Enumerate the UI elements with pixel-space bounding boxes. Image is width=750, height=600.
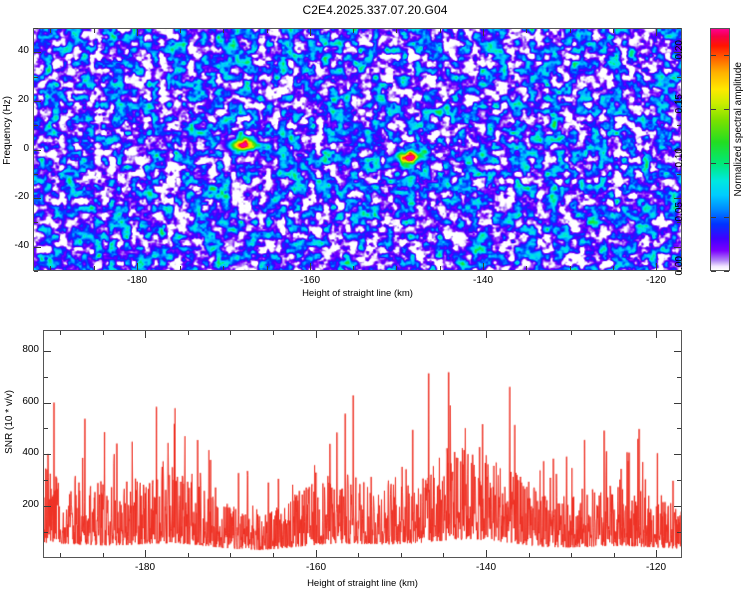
tick-mark xyxy=(396,29,397,33)
tick-label: -180 xyxy=(117,275,157,286)
tick-mark xyxy=(613,29,614,33)
tick-mark xyxy=(34,101,41,102)
tick-mark xyxy=(44,506,51,507)
snr-x-axis-label: Height of straight line (km) xyxy=(43,578,682,589)
snr-plot-area xyxy=(43,330,682,558)
tick-mark xyxy=(316,331,317,338)
tick-mark xyxy=(677,28,681,29)
tick-mark xyxy=(443,553,444,557)
tick-mark xyxy=(674,506,681,507)
tick-mark xyxy=(316,550,317,557)
tick-mark xyxy=(677,77,681,78)
tick-mark xyxy=(230,553,231,557)
tick-mark xyxy=(674,454,681,455)
tick-mark xyxy=(486,331,487,338)
tick-mark xyxy=(674,247,681,248)
tick-mark xyxy=(310,263,311,270)
tick-mark xyxy=(145,331,146,338)
tick-mark xyxy=(614,331,615,335)
page-title: C2E4.2025.337.07.20.G04 xyxy=(0,3,750,17)
tick-mark xyxy=(711,163,716,164)
tick-mark xyxy=(443,331,444,335)
tick-mark xyxy=(677,428,681,429)
tick-mark xyxy=(711,109,716,110)
tick-mark xyxy=(724,55,729,56)
tick-mark xyxy=(529,553,530,557)
tick-mark xyxy=(60,331,61,335)
tick-mark xyxy=(137,263,138,270)
tick-label: -40 xyxy=(5,240,29,251)
tick-mark xyxy=(396,266,397,270)
tick-mark xyxy=(94,29,95,33)
tick-mark xyxy=(401,331,402,335)
tick-mark xyxy=(267,266,268,270)
tick-mark xyxy=(571,331,572,335)
tick-mark xyxy=(34,52,41,53)
colorbar-label: Normalized spectral amplitude xyxy=(733,62,744,197)
tick-mark xyxy=(180,266,181,270)
tick-mark xyxy=(34,198,41,199)
tick-mark xyxy=(103,553,104,557)
tick-label: 0.00 xyxy=(674,256,704,275)
tick-mark xyxy=(34,271,38,272)
tick-mark xyxy=(137,29,138,36)
tick-mark xyxy=(711,55,716,56)
tick-label: 0.15 xyxy=(674,94,704,113)
tick-mark xyxy=(483,263,484,270)
tick-mark xyxy=(50,266,51,270)
tick-mark xyxy=(571,553,572,557)
tick-mark xyxy=(34,150,41,151)
tick-mark xyxy=(529,331,530,335)
tick-label: -160 xyxy=(290,275,330,286)
tick-mark xyxy=(103,331,104,335)
tick-label: 40 xyxy=(5,45,29,56)
tick-mark xyxy=(50,29,51,33)
tick-mark xyxy=(94,266,95,270)
tick-mark xyxy=(677,125,681,126)
tick-mark xyxy=(526,29,527,33)
tick-label: 0.20 xyxy=(674,40,704,59)
tick-mark xyxy=(677,174,681,175)
tick-label: 800 xyxy=(11,344,39,355)
tick-mark xyxy=(34,125,38,126)
tick-mark xyxy=(267,29,268,33)
tick-mark xyxy=(145,550,146,557)
tick-mark xyxy=(677,532,681,533)
tick-mark xyxy=(677,377,681,378)
tick-label: 400 xyxy=(11,447,39,458)
tick-mark xyxy=(674,198,681,199)
tick-mark xyxy=(677,222,681,223)
tick-mark xyxy=(44,428,48,429)
spectrogram-x-axis-label: Height of straight line (km) xyxy=(33,288,682,299)
tick-mark xyxy=(358,553,359,557)
tick-mark xyxy=(188,553,189,557)
tick-mark xyxy=(44,454,51,455)
tick-label: 600 xyxy=(11,396,39,407)
tick-mark xyxy=(570,266,571,270)
tick-mark xyxy=(34,247,41,248)
tick-mark xyxy=(358,331,359,335)
tick-mark xyxy=(188,331,189,335)
tick-mark xyxy=(614,553,615,557)
tick-mark xyxy=(310,29,311,36)
tick-label: -180 xyxy=(125,562,165,573)
tick-mark xyxy=(230,331,231,335)
tick-label: 20 xyxy=(5,94,29,105)
snr-canvas xyxy=(44,331,681,557)
tick-label: -140 xyxy=(463,275,503,286)
tick-label: -160 xyxy=(296,562,336,573)
tick-mark xyxy=(353,29,354,33)
tick-mark xyxy=(273,331,274,335)
tick-mark xyxy=(724,271,729,272)
spectrogram-plot-area xyxy=(33,28,682,271)
tick-mark xyxy=(34,77,38,78)
tick-mark xyxy=(677,480,681,481)
tick-mark xyxy=(724,109,729,110)
tick-mark xyxy=(353,266,354,270)
tick-mark xyxy=(656,29,657,36)
tick-mark xyxy=(273,553,274,557)
tick-label: -120 xyxy=(636,562,676,573)
colorbar xyxy=(710,28,730,271)
tick-mark xyxy=(401,553,402,557)
tick-label: 0.05 xyxy=(674,202,704,221)
tick-label: 0.10 xyxy=(674,148,704,167)
tick-mark xyxy=(570,29,571,33)
spectrogram-canvas xyxy=(34,29,681,270)
tick-mark xyxy=(44,532,48,533)
tick-mark xyxy=(34,222,38,223)
tick-mark xyxy=(724,217,729,218)
tick-mark xyxy=(656,263,657,270)
tick-mark xyxy=(60,553,61,557)
tick-mark xyxy=(44,377,48,378)
tick-mark xyxy=(44,403,51,404)
tick-mark xyxy=(656,550,657,557)
tick-mark xyxy=(674,403,681,404)
tick-mark xyxy=(656,331,657,338)
tick-mark xyxy=(483,29,484,36)
tick-mark xyxy=(711,271,716,272)
tick-mark xyxy=(44,351,51,352)
tick-mark xyxy=(223,29,224,33)
tick-label: -20 xyxy=(5,191,29,202)
tick-label: 0 xyxy=(5,143,29,154)
tick-mark xyxy=(674,351,681,352)
tick-mark xyxy=(180,29,181,33)
tick-mark xyxy=(711,217,716,218)
spectrogram-y-axis-label: Frequency (Hz) xyxy=(2,96,13,165)
tick-label: -120 xyxy=(636,275,676,286)
tick-mark xyxy=(613,266,614,270)
tick-mark xyxy=(724,163,729,164)
tick-label: 200 xyxy=(11,499,39,510)
tick-mark xyxy=(440,29,441,33)
tick-label: -140 xyxy=(466,562,506,573)
tick-mark xyxy=(44,480,48,481)
tick-mark xyxy=(34,28,38,29)
tick-mark xyxy=(526,266,527,270)
tick-mark xyxy=(440,266,441,270)
tick-mark xyxy=(223,266,224,270)
tick-mark xyxy=(486,550,487,557)
tick-mark xyxy=(34,174,38,175)
